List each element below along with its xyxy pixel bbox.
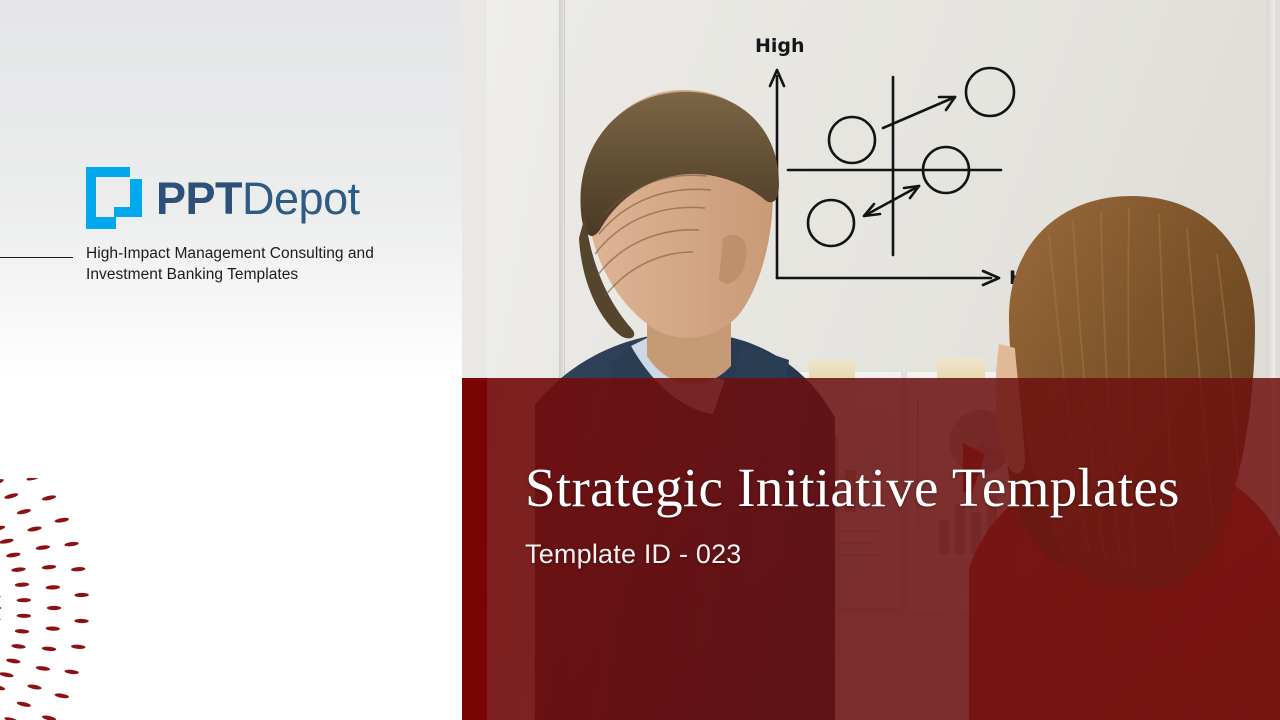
pptdepot-square-logo-icon xyxy=(86,167,142,229)
dot-arc-pattern xyxy=(0,478,152,720)
brand-tagline: High-Impact Management Consulting and In… xyxy=(86,243,446,285)
brand-wordmark: PPTDepot xyxy=(156,176,360,221)
slide-subtitle: Template ID - 023 xyxy=(525,539,1225,570)
slide-title: Strategic Initiative Templates xyxy=(525,458,1225,517)
title-band-text: Strategic Initiative Templates Template … xyxy=(525,458,1225,570)
title-band: Strategic Initiative Templates Template … xyxy=(462,378,1280,720)
brand-name-light: Depot xyxy=(242,176,360,221)
left-panel: PPTDepot High-Impact Management Consulti… xyxy=(0,0,462,720)
brand-name-bold: PPT xyxy=(156,176,242,221)
brand-divider-rule xyxy=(0,257,73,258)
brand-logo-row: PPTDepot xyxy=(86,165,360,231)
slide-canvas: PPTDepot High-Impact Management Consulti… xyxy=(0,0,1280,720)
brand-block: PPTDepot High-Impact Management Consulti… xyxy=(0,165,462,295)
chart-y-axis-label: High xyxy=(755,35,805,57)
title-band-solid-strip xyxy=(462,378,487,720)
